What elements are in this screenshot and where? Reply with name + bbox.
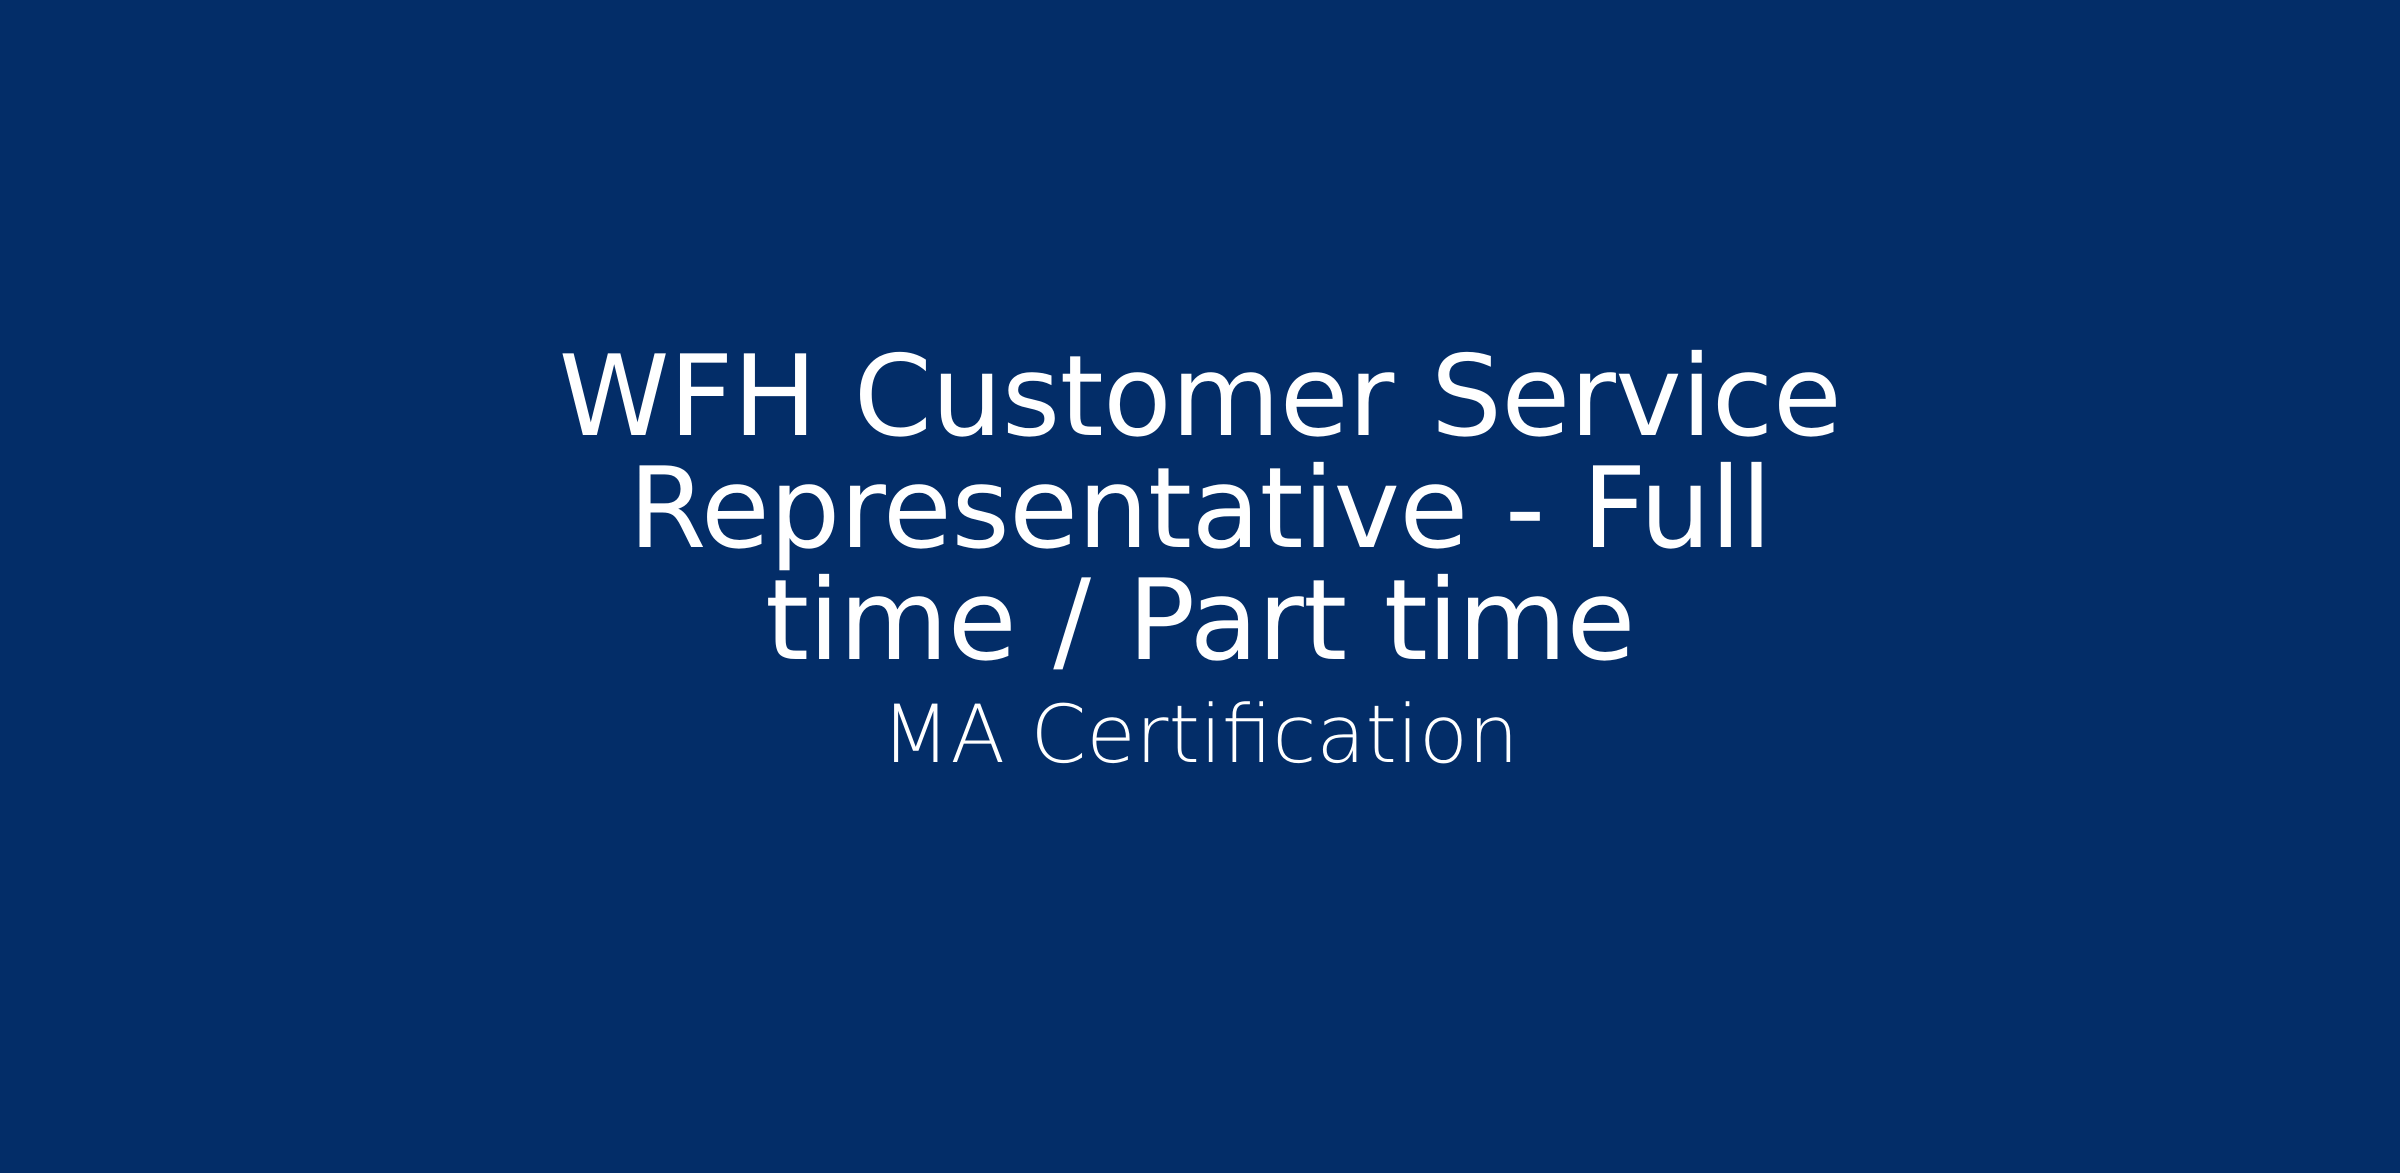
- job-title: WFH Customer Service Representative - Fu…: [530, 341, 1870, 677]
- job-text-block: WFH Customer Service Representative - Fu…: [530, 341, 1870, 775]
- job-subtitle: MA Certification: [881, 677, 1518, 775]
- job-posting-card: WFH Customer Service Representative - Fu…: [0, 0, 2400, 1173]
